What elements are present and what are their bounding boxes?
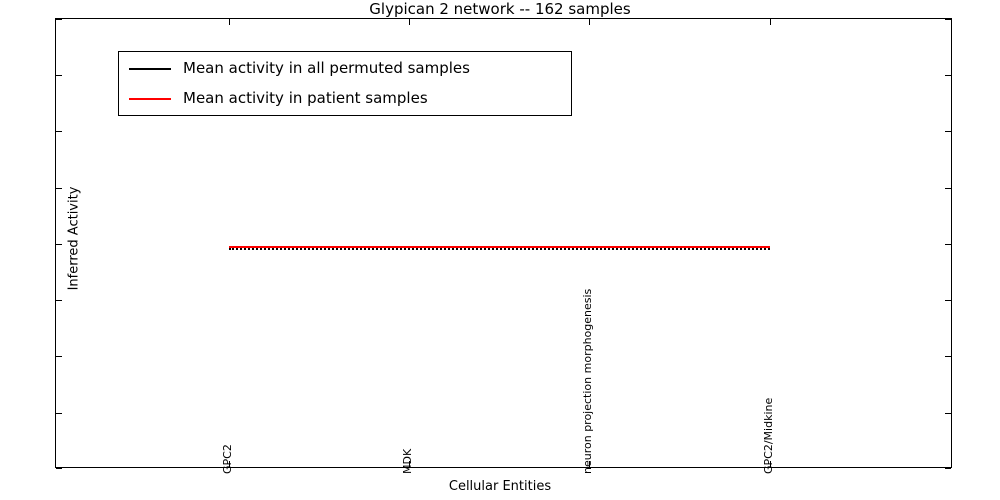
x-tick-label-gpc2-midkine: GPC2/Midkine xyxy=(763,398,774,474)
x-axis-label: Cellular Entities xyxy=(0,479,1000,494)
series-line-permuted-samples xyxy=(229,248,770,250)
y-tick-right-1 xyxy=(945,188,951,189)
y-tick-minus-4 xyxy=(56,468,62,469)
y-tick-3 xyxy=(56,75,62,76)
y-tick-0 xyxy=(56,244,62,245)
plot-area: 4 3 2 1 0 −1 −2 −3 −4 Inferred Activity … xyxy=(55,18,952,468)
y-tick-4 xyxy=(56,19,62,20)
y-tick-2 xyxy=(56,131,62,132)
y-tick-right-minus-2 xyxy=(945,356,951,357)
y-tick-right-minus-3 xyxy=(945,413,951,414)
x-tick-label-neuron-projection-morphogenesis: neuron projection morphogenesis xyxy=(582,289,593,474)
legend-label-patient: Mean activity in patient samples xyxy=(183,88,428,109)
x-tick-top-mdk xyxy=(409,19,410,25)
legend-entry-patient: Mean activity in patient samples xyxy=(119,84,571,114)
x-tick-label-mdk: MDK xyxy=(402,449,413,474)
y-tick-right-0 xyxy=(945,244,951,245)
y-tick-minus-3 xyxy=(56,413,62,414)
y-tick-right-3 xyxy=(945,75,951,76)
y-tick-right-minus-1 xyxy=(945,300,951,301)
y-tick-right-4 xyxy=(945,19,951,20)
y-tick-right-2 xyxy=(945,131,951,132)
legend-entry-permuted: Mean activity in all permuted samples xyxy=(119,54,571,84)
y-tick-right-minus-4 xyxy=(945,468,951,469)
x-tick-top-neuron-projection-morphogenesis xyxy=(589,19,590,25)
chart-title: Glypican 2 network -- 162 samples xyxy=(0,1,1000,18)
x-tick-label-gpc2: GPC2 xyxy=(222,444,233,474)
y-axis-label: Inferred Activity xyxy=(67,29,82,449)
y-tick-1 xyxy=(56,188,62,189)
legend: Mean activity in all permuted samples Me… xyxy=(118,51,572,116)
x-tick-top-gpc2-midkine xyxy=(770,19,771,25)
x-tick-top-gpc2 xyxy=(229,19,230,25)
legend-label-permuted: Mean activity in all permuted samples xyxy=(183,58,470,79)
chart-figure: Glypican 2 network -- 162 samples 4 3 2 … xyxy=(0,0,1000,500)
y-tick-minus-1 xyxy=(56,300,62,301)
y-tick-minus-2 xyxy=(56,356,62,357)
black-line-icon xyxy=(129,68,171,70)
red-line-icon xyxy=(129,98,171,100)
